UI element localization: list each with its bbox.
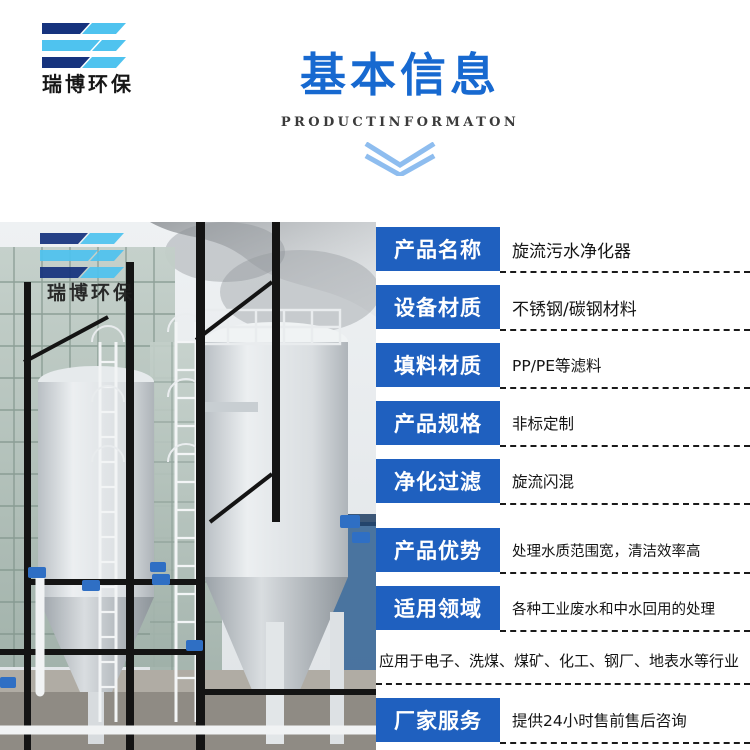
product-spec-table: 产品名称 旋流污水净化器 设备材质 不锈钢/碳钢材料 填料材质 PP/PE等滤料… xyxy=(376,222,750,750)
page-content: 瑞博环保 产品名称 旋流污水净化器 设备材质 不锈钢/碳钢材料 填料材质 PP/… xyxy=(0,222,750,750)
row-divider xyxy=(500,503,750,505)
logo-bar-top xyxy=(42,22,126,35)
row-divider xyxy=(500,742,750,744)
spec-value-equipment-material: 不锈钢/碳钢材料 xyxy=(500,285,750,329)
table-row: 产品优势 处理水质范围宽，清洁效率高 xyxy=(376,528,750,572)
logo-bar-bottom xyxy=(42,56,126,69)
spec-value-product-name: 旋流污水净化器 xyxy=(500,227,750,271)
row-divider xyxy=(500,445,750,447)
spec-label-product-spec: 产品规格 xyxy=(376,401,500,445)
table-row: 设备材质 不锈钢/碳钢材料 xyxy=(376,285,750,329)
logo-bar-middle xyxy=(40,249,124,262)
spec-value-application-field: 各种工业废水和中水回用的处理 xyxy=(500,586,750,630)
table-row: 填料材质 PP/PE等滤料 xyxy=(376,343,750,387)
photo-watermark-text: 瑞博环保 xyxy=(26,284,156,303)
table-row: 产品规格 非标定制 xyxy=(376,401,750,445)
page-header: 瑞博环保 基本信息 PRODUCTINFORMATON xyxy=(0,0,750,222)
spec-label-manufacturer-service: 厂家服务 xyxy=(376,698,500,742)
logo-bar-bottom xyxy=(40,266,124,279)
spec-value-product-advantage: 处理水质范围宽，清洁效率高 xyxy=(500,528,750,572)
ruibo-stacked-bars-logo-icon-watermark xyxy=(40,232,124,280)
spec-value-product-spec: 非标定制 xyxy=(500,401,750,445)
spec-label-product-advantage: 产品优势 xyxy=(376,528,500,572)
spec-label-filler-material: 填料材质 xyxy=(376,343,500,387)
page-subtitle: PRODUCTINFORMATON xyxy=(250,115,550,130)
table-row: 适用领域 各种工业废水和中水回用的处理 xyxy=(376,586,750,630)
spec-value-filler-material: PP/PE等滤料 xyxy=(500,343,750,387)
row-divider xyxy=(500,329,750,331)
product-information-page: 瑞博环保 基本信息 PRODUCTINFORMATON xyxy=(0,0,750,750)
table-row: 净化过滤 旋流闪混 xyxy=(376,459,750,503)
page-title: 基本信息 xyxy=(250,50,550,101)
row-divider xyxy=(500,630,750,632)
spec-value-purification-filtering: 旋流闪混 xyxy=(500,459,750,503)
chevron-down-double-icon xyxy=(250,142,550,176)
brand-logo: 瑞博环保 xyxy=(28,22,148,112)
row-divider xyxy=(500,387,750,389)
row-divider xyxy=(500,572,750,574)
spec-value-manufacturer-service: 提供24小时售前售后咨询 xyxy=(500,698,750,742)
spec-label-purification-filtering: 净化过滤 xyxy=(376,459,500,503)
header-title-block: 基本信息 PRODUCTINFORMATON xyxy=(250,50,550,176)
brand-logo-text: 瑞博环保 xyxy=(28,74,148,94)
table-row: 厂家服务 提供24小时售前售后咨询 xyxy=(376,698,750,742)
ruibo-stacked-bars-logo-icon xyxy=(42,22,126,70)
spec-value-application-field-continued: 应用于电子、洗煤、煤矿、化工、钢厂、地表水等行业 xyxy=(376,640,750,680)
photo-watermark-logo: 瑞博环保 xyxy=(26,232,156,324)
spec-label-application-field: 适用领域 xyxy=(376,586,500,630)
logo-bar-middle xyxy=(42,39,126,52)
table-row: 产品名称 旋流污水净化器 xyxy=(376,227,750,271)
spec-label-equipment-material: 设备材质 xyxy=(376,285,500,329)
spec-label-product-name: 产品名称 xyxy=(376,227,500,271)
product-photo: 瑞博环保 xyxy=(0,222,376,750)
row-divider xyxy=(500,271,750,273)
logo-bar-top xyxy=(40,232,124,245)
row-divider xyxy=(376,683,750,685)
